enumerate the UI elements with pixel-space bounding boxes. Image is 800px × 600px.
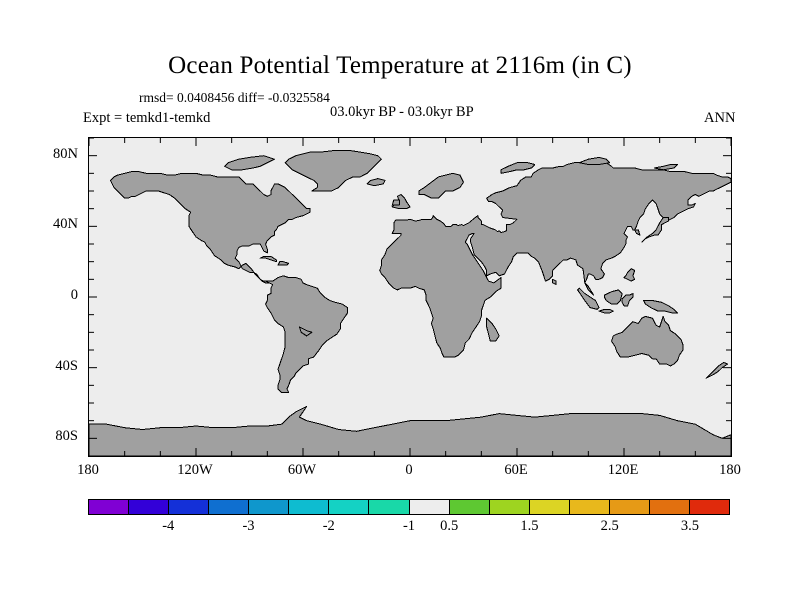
colorbar-segment-11 (530, 500, 570, 514)
experiment-annotation: Expt = temkd1-temkd (83, 110, 210, 127)
colorbar-segment-6 (329, 500, 369, 514)
colorbar-tick-label: 3.5 (665, 518, 715, 535)
x-axis-tick-label: 60W (272, 462, 332, 479)
colorbar-segment-8 (410, 500, 450, 514)
colorbar-tick-label: 2.5 (585, 518, 635, 535)
colorbar-segment-3 (209, 500, 249, 514)
land-ireland (392, 200, 399, 205)
page-title: Ocean Potential Temperature at 2116m (in… (0, 52, 800, 80)
y-axis-tick-label: 40N (26, 216, 78, 233)
colorbar-segment-5 (289, 500, 329, 514)
x-axis-tick-label: 180 (58, 462, 118, 479)
colorbar-segment-1 (129, 500, 169, 514)
colorbar-segment-9 (450, 500, 490, 514)
colorbar[interactable] (88, 499, 730, 515)
x-axis-tick-label: 180 (700, 462, 760, 479)
colorbar-segment-7 (369, 500, 409, 514)
figure-canvas: Ocean Potential Temperature at 2116m (in… (0, 0, 800, 600)
x-axis-tick-label: 120W (165, 462, 225, 479)
world-map (89, 138, 731, 456)
x-axis-tick-label: 120E (593, 462, 653, 479)
colorbar-segment-0 (89, 500, 129, 514)
colorbar-segment-2 (169, 500, 209, 514)
statistics-annotation: rmsd= 0.0408456 diff= -0.0325584 (139, 90, 330, 106)
x-axis-tick-label: 0 (379, 462, 439, 479)
x-axis-tick-label: 60E (486, 462, 546, 479)
y-axis-tick-label: 80N (26, 146, 78, 163)
colorbar-segment-10 (490, 500, 530, 514)
map-plot-area (88, 137, 732, 457)
season-label: ANN (704, 110, 735, 127)
colorbar-segment-15 (690, 500, 729, 514)
colorbar-segment-4 (249, 500, 289, 514)
y-axis-tick-label: 40S (26, 358, 78, 375)
colorbar-tick-label: -3 (224, 518, 274, 535)
colorbar-tick-label: 0.5 (424, 518, 474, 535)
colorbar-segment-13 (610, 500, 650, 514)
colorbar-tick-label: 1.5 (504, 518, 554, 535)
colorbar-tick-label: -2 (304, 518, 354, 535)
colorbar-tick-label: -4 (143, 518, 193, 535)
colorbar-segment-14 (650, 500, 690, 514)
period-annotation: 03.0kyr BP - 03.0kyr BP (330, 104, 474, 121)
y-axis-tick-label: 0 (26, 287, 78, 304)
y-axis-tick-label: 80S (26, 428, 78, 445)
colorbar-segment-12 (570, 500, 610, 514)
